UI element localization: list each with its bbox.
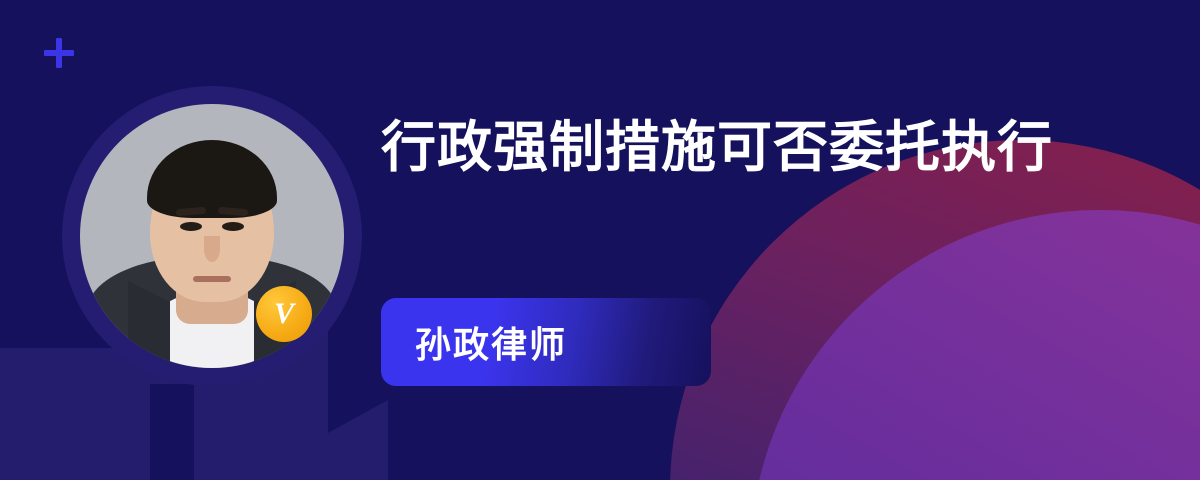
plus-icon: [44, 38, 74, 68]
verified-check-icon: V: [256, 286, 312, 342]
verified-check-glyph: V: [274, 299, 294, 329]
avatar[interactable]: V: [62, 86, 362, 386]
decorative-slab-stem: [150, 384, 194, 480]
lawyer-article-banner: V 行政强制措施可否委托执行 孙政律师: [0, 0, 1200, 480]
content-area: 行政强制措施可否委托执行: [381, 112, 1141, 182]
author-button[interactable]: 孙政律师: [381, 298, 711, 386]
page-title: 行政强制措施可否委托执行: [381, 112, 1071, 182]
